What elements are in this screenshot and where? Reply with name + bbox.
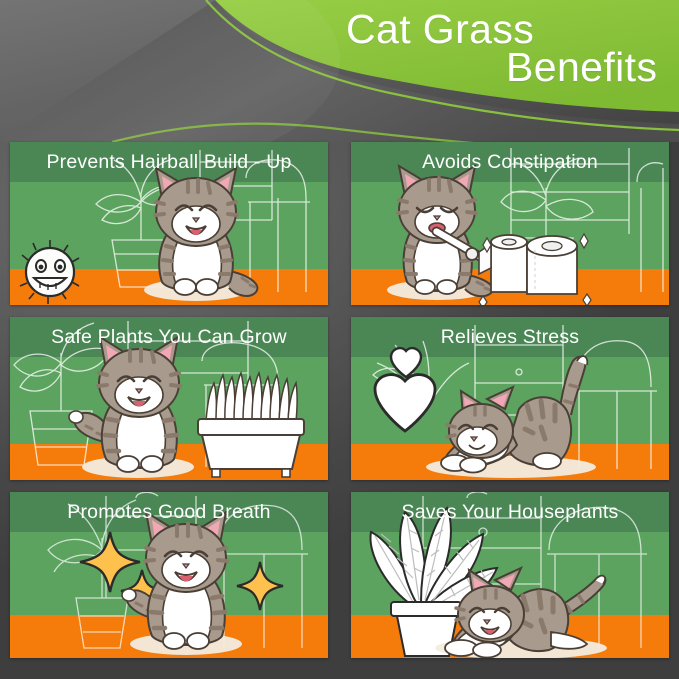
panel-title: Safe Plants You Can Grow (10, 317, 328, 357)
sparkle-icon (80, 532, 140, 592)
panel-title: Avoids Constipation (351, 142, 669, 182)
toilet-paper-rolls (479, 235, 577, 294)
panel-title: Prevents Hairball Build - Up (10, 142, 328, 182)
infographic-page: Cat Grass Benefits (0, 0, 679, 679)
panel-title: Promotes Good Breath (10, 492, 328, 532)
panel-hairball[interactable]: Prevents Hairball Build - Up (10, 142, 328, 305)
heart-icon (375, 375, 435, 431)
panel-title: Relieves Stress (351, 317, 669, 357)
benefits-grid: Prevents Hairball Build - Up (10, 142, 669, 674)
header-title-line2: Benefits (506, 44, 657, 91)
panel-safe-plants[interactable]: Safe Plants You Can Grow (10, 317, 328, 480)
panel-breath[interactable]: Promotes Good Breath (10, 492, 328, 658)
cat-grass-planter (198, 373, 304, 477)
sparkle-icon (237, 562, 283, 610)
panel-constipation[interactable]: Avoids Constipation (351, 142, 669, 305)
header-banner: Cat Grass Benefits (0, 0, 679, 142)
panel-stress[interactable]: Relieves Stress (351, 317, 669, 480)
hairball-icon (20, 240, 79, 304)
panel-houseplants[interactable]: Saves Your Houseplants (351, 492, 669, 658)
panel-title: Saves Your Houseplants (351, 492, 669, 532)
